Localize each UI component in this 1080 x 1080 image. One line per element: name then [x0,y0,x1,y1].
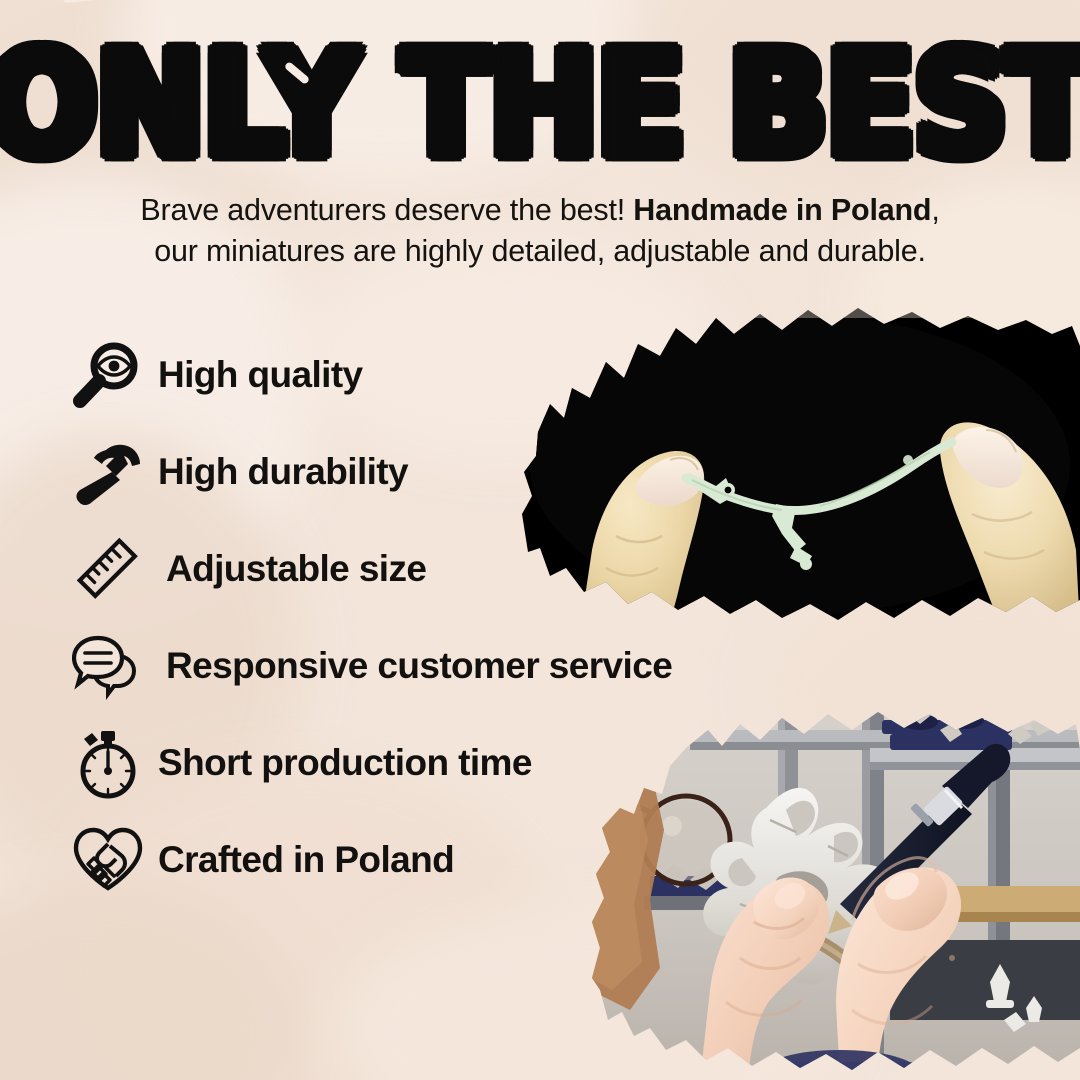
feature-label: Short production time [158,742,532,784]
speech-bubbles-icon [62,620,154,712]
subtitle-lead: Brave adventurers deserve the best! [140,193,633,227]
hammer-icon [62,426,154,518]
subtitle-line-2: our miniatures are highly detailed, adju… [0,231,1080,272]
list-item: Adjustable size [62,520,782,617]
list-item: Short production time [62,714,782,811]
headline-container: ONLY THE BEST [0,34,1080,174]
stopwatch-icon [62,717,154,809]
feature-label: Responsive customer service [166,645,672,687]
heart-handshake-icon [62,814,154,906]
ruler-icon [62,523,154,615]
feature-label: High quality [158,354,363,396]
feature-label: Adjustable size [166,548,426,590]
subtitle: Brave adventurers deserve the best! Hand… [0,190,1080,272]
list-item: Crafted in Poland [62,811,782,908]
list-item: High quality [62,326,782,423]
page-title: ONLY THE BEST [0,32,1080,176]
feature-list: High quality High durability [62,326,782,908]
subtitle-highlight: Handmade in Poland [633,193,931,227]
promo-poster: ONLY THE BEST Brave adventurers deserve … [0,0,1080,1080]
subtitle-line-1: Brave adventurers deserve the best! Hand… [0,190,1080,231]
magnifier-eye-icon [62,329,154,421]
subtitle-tail: , [931,193,939,227]
list-item: High durability [62,423,782,520]
list-item: Responsive customer service [62,617,782,714]
feature-label: High durability [158,451,408,493]
feature-label: Crafted in Poland [158,839,454,881]
